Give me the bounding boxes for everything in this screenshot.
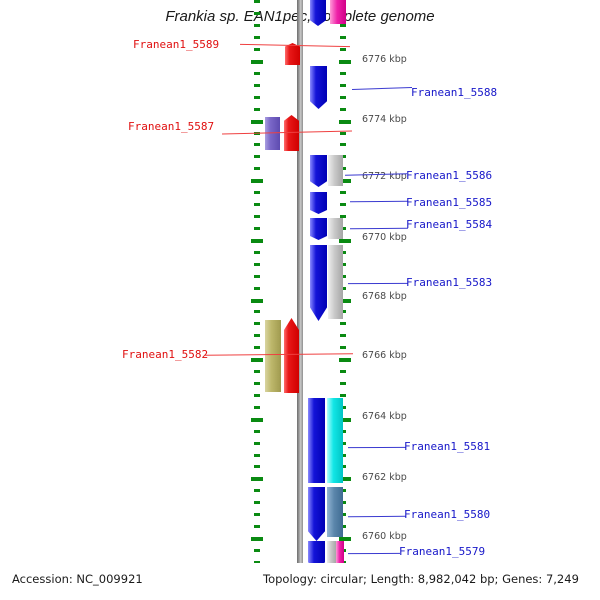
ruler-tick-major bbox=[339, 120, 351, 124]
ruler-tick-major bbox=[251, 239, 263, 243]
ruler-tick-minor bbox=[254, 84, 260, 87]
gene-glyph-steel-5580[interactable] bbox=[327, 487, 343, 537]
leader-line-5579 bbox=[348, 553, 400, 554]
ruler-tick-minor bbox=[254, 334, 260, 337]
gene-glyph-5582[interactable] bbox=[284, 318, 299, 393]
gene-label-5580[interactable]: Franean1_5580 bbox=[404, 508, 490, 521]
leader-line-5585 bbox=[350, 201, 408, 203]
ruler-tick-minor bbox=[254, 263, 260, 266]
ruler-tick-minor bbox=[254, 465, 260, 468]
gene-glyph-gray-5584[interactable] bbox=[328, 218, 343, 239]
gene-label-5586[interactable]: Franean1_5586 bbox=[406, 169, 492, 182]
gene-glyph-5585[interactable] bbox=[310, 192, 327, 214]
ruler-tick-minor bbox=[340, 108, 346, 111]
ruler-tick-major bbox=[339, 239, 351, 243]
ruler-tick-minor bbox=[254, 12, 260, 15]
ruler-tick-minor bbox=[254, 287, 260, 290]
ruler-tick-minor bbox=[254, 0, 260, 3]
gene-glyph-cyan-5581[interactable] bbox=[327, 398, 343, 483]
ruler-tick-minor bbox=[340, 382, 346, 385]
gene-glyph-slateblue-a[interactable] bbox=[265, 117, 280, 150]
status-bar: Accession: NC_009921 Topology: circular;… bbox=[0, 563, 600, 600]
ruler-tick-minor bbox=[254, 155, 260, 158]
ruler-tick-minor bbox=[254, 394, 260, 397]
ruler-label-3: 6770 kbp bbox=[362, 232, 407, 243]
leader-line-5580 bbox=[348, 516, 406, 517]
ruler-tick-minor bbox=[254, 501, 260, 504]
gene-label-5583[interactable]: Franean1_5583 bbox=[406, 276, 492, 289]
leader-line-5581 bbox=[348, 447, 406, 448]
gene-glyph-khaki[interactable] bbox=[265, 320, 281, 392]
ruler-tick-minor bbox=[254, 251, 260, 254]
genome-axis bbox=[297, 0, 303, 600]
ruler-tick-minor bbox=[254, 310, 260, 313]
ruler-tick-minor bbox=[340, 24, 346, 27]
gene-glyph-magenta-5579[interactable] bbox=[336, 541, 344, 565]
ruler-label-8: 6760 kbp bbox=[362, 531, 407, 542]
leader-line-5583 bbox=[348, 283, 408, 284]
ruler-label-6: 6764 kbp bbox=[362, 411, 407, 422]
ruler-tick-minor bbox=[254, 513, 260, 516]
ruler-tick-minor bbox=[254, 203, 260, 206]
gene-label-5589[interactable]: Franean1_5589 bbox=[133, 38, 219, 51]
ruler-tick-minor bbox=[340, 72, 346, 75]
ruler-tick-major bbox=[339, 60, 351, 64]
ruler-tick-minor bbox=[340, 370, 346, 373]
genome-summary-text: Topology: circular; Length: 8,982,042 bp… bbox=[263, 572, 579, 586]
ruler-tick-minor bbox=[254, 143, 260, 146]
ruler-tick-minor bbox=[254, 227, 260, 230]
ruler-tick-minor bbox=[254, 322, 260, 325]
gene-glyph-gray-5579[interactable] bbox=[327, 541, 336, 565]
ruler-tick-major bbox=[251, 299, 263, 303]
gene-label-5588[interactable]: Franean1_5588 bbox=[411, 86, 497, 99]
gene-glyph-gray-5586[interactable] bbox=[328, 155, 343, 186]
ruler-tick-major bbox=[339, 358, 351, 362]
gene-glyph-5581[interactable] bbox=[308, 398, 325, 483]
ruler-tick-minor bbox=[254, 406, 260, 409]
ruler-tick-minor bbox=[340, 36, 346, 39]
ruler-tick-minor bbox=[254, 24, 260, 27]
ruler-tick-minor bbox=[340, 346, 346, 349]
gene-glyph-top-blue[interactable] bbox=[310, 0, 326, 26]
ruler-tick-minor bbox=[340, 84, 346, 87]
ruler-tick-minor bbox=[254, 454, 260, 457]
ruler-tick-minor bbox=[254, 525, 260, 528]
gene-label-5582[interactable]: Franean1_5582 bbox=[122, 348, 208, 361]
ruler-label-5: 6766 kbp bbox=[362, 350, 407, 361]
ruler-tick-minor bbox=[340, 132, 346, 135]
gene-glyph-5588[interactable] bbox=[310, 66, 327, 109]
ruler-label-4: 6768 kbp bbox=[362, 291, 407, 302]
ruler-tick-minor bbox=[254, 191, 260, 194]
gene-glyph-gray-5583[interactable] bbox=[328, 245, 343, 319]
ruler-tick-major bbox=[251, 60, 263, 64]
ruler-label-7: 6762 kbp bbox=[362, 472, 407, 483]
ruler-tick-minor bbox=[254, 382, 260, 385]
ruler-tick-minor bbox=[340, 96, 346, 99]
gene-glyph-5580[interactable] bbox=[308, 487, 325, 541]
gene-glyph-top-magenta[interactable] bbox=[330, 0, 346, 24]
ruler-tick-minor bbox=[340, 143, 346, 146]
ruler-tick-minor bbox=[340, 394, 346, 397]
gene-label-5584[interactable]: Franean1_5584 bbox=[406, 218, 492, 231]
gene-glyph-5583[interactable] bbox=[310, 245, 327, 321]
gene-label-5585[interactable]: Franean1_5585 bbox=[406, 196, 492, 209]
ruler-tick-minor bbox=[254, 275, 260, 278]
ruler-tick-minor bbox=[340, 334, 346, 337]
leader-line-5588 bbox=[352, 87, 412, 90]
ruler-tick-minor bbox=[254, 215, 260, 218]
ruler-tick-minor bbox=[254, 370, 260, 373]
ruler-tick-minor bbox=[340, 203, 346, 206]
ruler-tick-minor bbox=[254, 96, 260, 99]
ruler-tick-minor bbox=[254, 48, 260, 51]
gene-label-5581[interactable]: Franean1_5581 bbox=[404, 440, 490, 453]
ruler-tick-minor bbox=[254, 549, 260, 552]
ruler-tick-minor bbox=[340, 191, 346, 194]
genome-viewer: Frankia sp. EAN1pec, complete genome 677… bbox=[0, 0, 600, 600]
gene-glyph-5586[interactable] bbox=[310, 155, 327, 187]
ruler-tick-minor bbox=[254, 72, 260, 75]
ruler-tick-minor bbox=[254, 442, 260, 445]
genome-map[interactable]: 6776 kbp6774 kbp6772 kbp6770 kbp6768 kbp… bbox=[0, 0, 600, 578]
accession-text: Accession: NC_009921 bbox=[12, 572, 143, 586]
ruler-tick-major bbox=[251, 120, 263, 124]
ruler-tick-minor bbox=[254, 346, 260, 349]
ruler-tick-minor bbox=[254, 489, 260, 492]
leader-line-5584 bbox=[350, 228, 408, 230]
ruler-tick-major bbox=[251, 179, 263, 183]
ruler-tick-minor bbox=[340, 48, 346, 51]
ruler-tick-major bbox=[251, 418, 263, 422]
gene-glyph-5589[interactable] bbox=[285, 43, 300, 65]
ruler-tick-minor bbox=[254, 36, 260, 39]
ruler-tick-minor bbox=[340, 322, 346, 325]
ruler-label-1: 6774 kbp bbox=[362, 114, 407, 125]
ruler-label-0: 6776 kbp bbox=[362, 54, 407, 65]
ruler-tick-major bbox=[251, 477, 263, 481]
ruler-tick-major bbox=[251, 358, 263, 362]
gene-glyph-5584[interactable] bbox=[310, 218, 327, 240]
ruler-tick-minor bbox=[254, 430, 260, 433]
gene-label-5579[interactable]: Franean1_5579 bbox=[399, 545, 485, 558]
ruler-tick-minor bbox=[254, 108, 260, 111]
gene-label-5587[interactable]: Franean1_5587 bbox=[128, 120, 214, 133]
ruler-tick-major bbox=[251, 537, 263, 541]
ruler-tick-minor bbox=[254, 167, 260, 170]
